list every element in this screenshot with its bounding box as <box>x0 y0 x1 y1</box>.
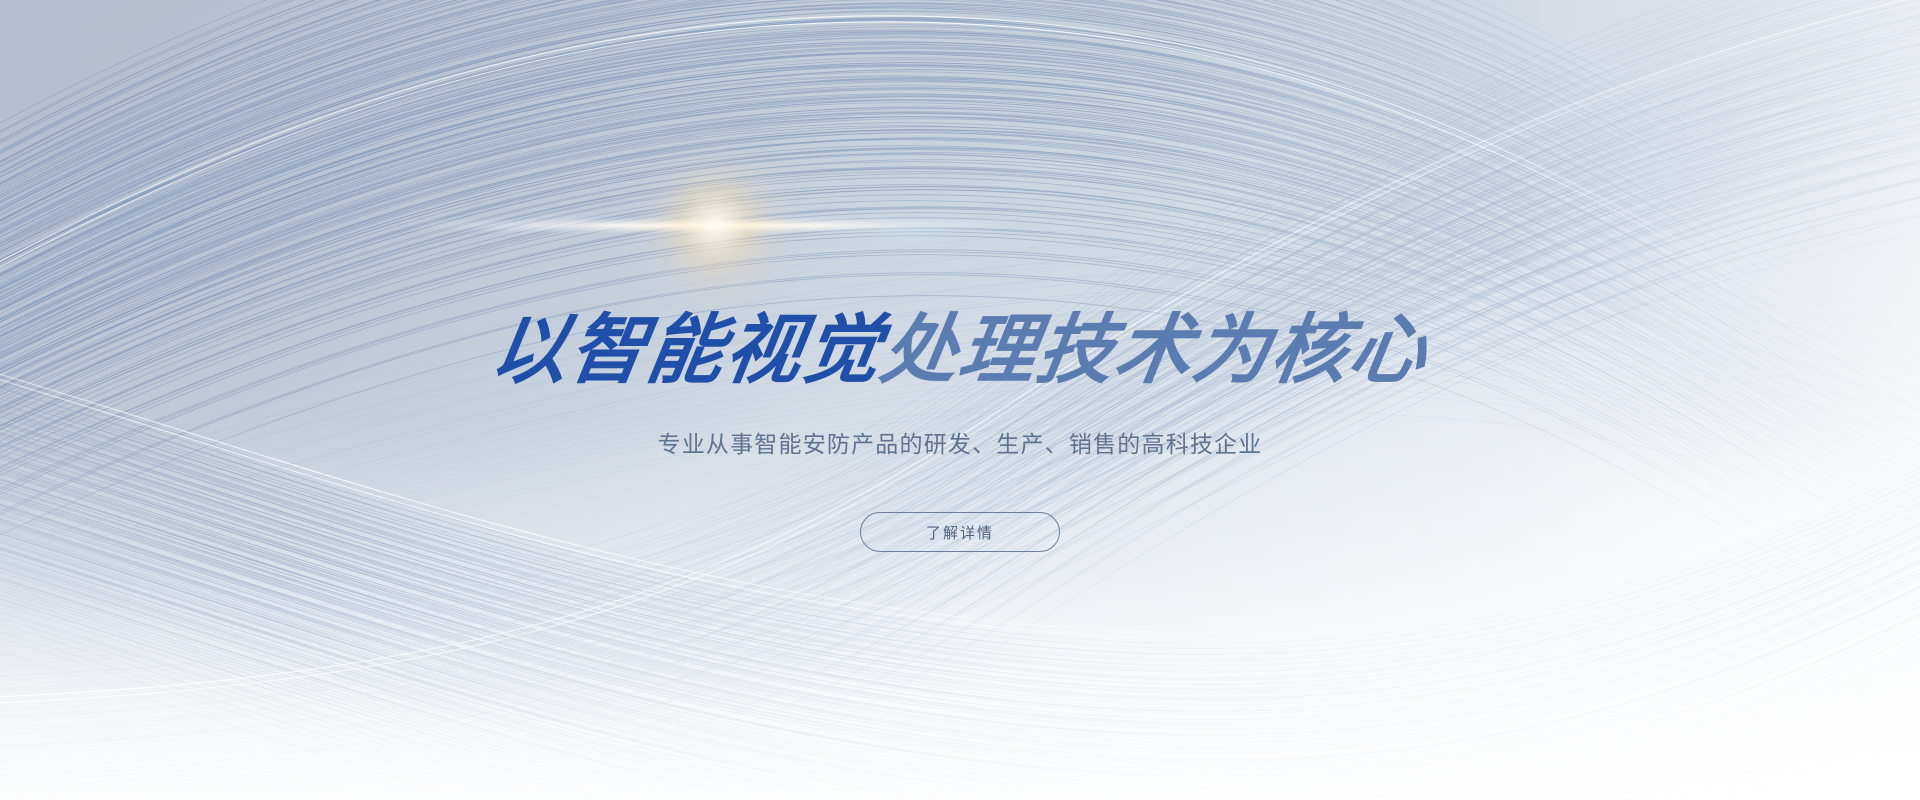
hero-content: 以智能视觉处理技术为核心 专业从事智能安防产品的研发、生产、销售的高科技企业 了… <box>0 0 1920 800</box>
hero-banner: 以智能视觉处理技术为核心 专业从事智能安防产品的研发、生产、销售的高科技企业 了… <box>0 0 1920 800</box>
page-title-primary: 以智能视觉 <box>486 313 888 389</box>
cta-container: 了解详情 <box>0 512 1920 552</box>
page-subtitle: 专业从事智能安防产品的研发、生产、销售的高科技企业 <box>0 428 1920 460</box>
page-title-secondary: 处理技术为核心 <box>876 313 1434 389</box>
page-title: 以智能视觉处理技术为核心 <box>0 313 1920 389</box>
learn-more-button[interactable]: 了解详情 <box>860 512 1060 552</box>
